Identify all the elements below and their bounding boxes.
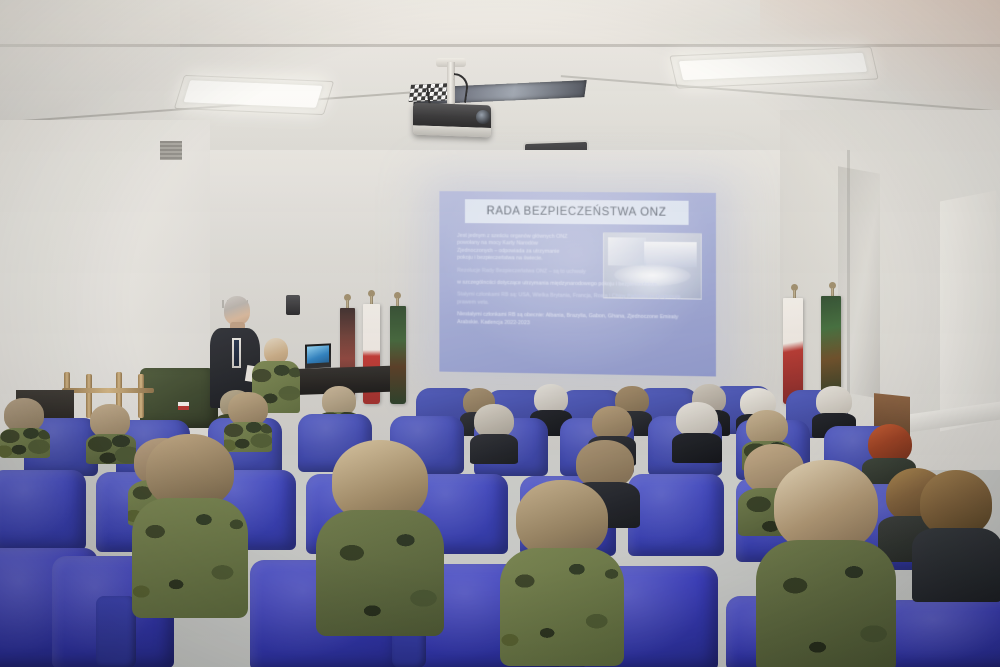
laptop: [305, 343, 331, 368]
wall-socket: [286, 295, 300, 315]
slide-body: Jest jednym z sześciu organów głównych O…: [457, 233, 702, 335]
audience-member: [0, 398, 50, 456]
head: [474, 404, 514, 438]
slide-bullet-4: Niestałymi członkami RB są obecnie: Alba…: [457, 312, 695, 330]
head: [516, 480, 608, 558]
audience-member-foreground: [756, 460, 896, 667]
projector-lens-icon: [476, 110, 490, 124]
slide-title: RADA BEZPIECZEŃSTWA ONZ: [487, 205, 667, 218]
torso: [756, 540, 896, 667]
flag-banner: [390, 306, 406, 404]
projected-slide: RADA BEZPIECZEŃSTWA ONZ Jest jednym z sz…: [439, 191, 716, 376]
head-grey-hair: [676, 402, 718, 437]
torso: [132, 498, 248, 618]
torso: [470, 434, 518, 464]
slide-intro-paragraph: Jest jednym z sześciu organów głównych O…: [457, 233, 568, 264]
torso: [0, 428, 50, 458]
audience-member: [470, 404, 518, 462]
audience-member-foreground: [316, 440, 444, 630]
torso: [912, 528, 1000, 602]
head: [746, 410, 788, 445]
presenter-head: [224, 296, 250, 325]
head: [592, 406, 632, 440]
head-blonde-hair: [920, 470, 992, 536]
audience-member: [672, 402, 722, 462]
ceiling-left-highlight: [0, 0, 180, 120]
slide-bullet-3: Stałymi członkami RB są: USA, Wielka Bry…: [457, 292, 695, 310]
audience-member-foreground: [500, 480, 624, 660]
auditorium-scene: RADA BEZPIECZEŃSTWA ONZ Jest jednym z sz…: [0, 0, 1000, 667]
wall-vent: [160, 141, 182, 160]
audience-member-foreground: [132, 434, 248, 614]
torso: [316, 510, 444, 636]
laptop-screen: [307, 345, 329, 363]
head: [90, 404, 130, 438]
audience-member-woman: [912, 470, 1000, 600]
torso: [500, 548, 624, 666]
head-bald: [774, 460, 878, 552]
seat-armrest: [96, 596, 136, 667]
slide-title-box: RADA BEZPIECZEŃSTWA ONZ: [465, 199, 689, 225]
flag-patch-icon: [178, 402, 189, 410]
slide-bullet-2: w szczególności dotyczące utrzymania mię…: [457, 280, 695, 290]
head: [228, 392, 268, 426]
seat[interactable]: [0, 470, 86, 550]
torso: [672, 433, 722, 463]
seat[interactable]: [628, 474, 724, 556]
presenter-tie: [234, 340, 239, 366]
seat[interactable]: [884, 600, 1000, 667]
head: [4, 398, 44, 432]
flag-banner: [783, 298, 803, 404]
wall-niche-right: [940, 191, 996, 432]
head: [146, 434, 234, 508]
slide-bullet-1: Rezolucje Rady Bezpieczeństwa ONZ – są t…: [457, 267, 695, 277]
